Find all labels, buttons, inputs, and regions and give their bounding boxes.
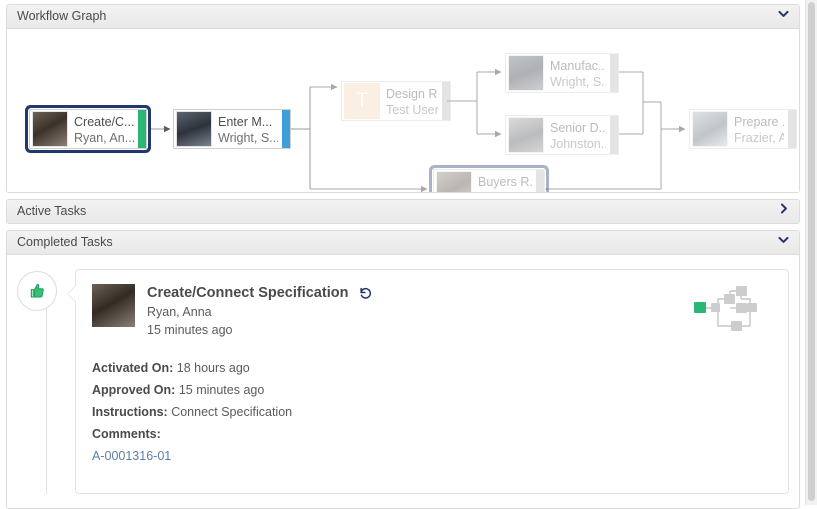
workflow-thumbnail-icon[interactable] bbox=[692, 286, 770, 338]
field-activated-on: Activated On: 18 hours ago bbox=[92, 357, 772, 379]
avatar bbox=[92, 284, 135, 327]
task-document-link[interactable]: A-0001316-01 bbox=[92, 445, 772, 467]
avatar bbox=[32, 111, 68, 147]
task-fields: Activated On: 18 hours ago Approved On: … bbox=[92, 357, 772, 467]
task-title: Create/Connect Specification bbox=[147, 284, 348, 302]
field-instructions: Instructions: Connect Specification bbox=[92, 401, 772, 423]
workflow-node-senior-design[interactable]: Senior D... Johnston... bbox=[505, 115, 619, 155]
chevron-right-icon[interactable] bbox=[777, 200, 790, 223]
field-label: Activated On: bbox=[92, 361, 173, 375]
task-card-header: Create/Connect Specification bbox=[92, 284, 772, 339]
list-item: Create/Connect Specification bbox=[17, 269, 789, 494]
status-bar bbox=[282, 110, 290, 148]
field-value: 18 hours ago bbox=[177, 361, 250, 375]
status-bar bbox=[788, 110, 796, 148]
workflow-node-user: Frazier, A... bbox=[734, 130, 784, 146]
avatar bbox=[508, 55, 544, 91]
workflow-node-create[interactable]: Create/C... Ryan, An... bbox=[29, 109, 147, 149]
field-label: Instructions: bbox=[92, 405, 168, 419]
field-value: 15 minutes ago bbox=[179, 383, 264, 397]
workflow-node-enter[interactable]: Enter M... Wright, S... bbox=[173, 109, 291, 149]
workflow-node-user: Test User1 bbox=[386, 102, 438, 118]
panel-workflow-graph: Workflow Graph bbox=[6, 4, 800, 193]
workflow-graph-canvas[interactable]: Create/C... Ryan, An... Enter M... Wrigh… bbox=[7, 29, 799, 192]
workflow-node-title: Buyers R... bbox=[478, 174, 532, 190]
field-label: Approved On: bbox=[92, 383, 175, 397]
panel-title-active-tasks: Active Tasks bbox=[17, 204, 86, 218]
workflow-page: Workflow Graph bbox=[0, 0, 817, 505]
panel-title-workflow-graph: Workflow Graph bbox=[17, 9, 106, 23]
workflow-node-title: Create/C... bbox=[74, 114, 134, 130]
status-bar bbox=[610, 54, 618, 92]
workflow-node-user: Wright, S... bbox=[218, 130, 278, 146]
panel-header-active-tasks[interactable]: Active Tasks bbox=[7, 200, 799, 223]
workflow-node-user: Ryan, An... bbox=[74, 130, 134, 146]
thumbs-up-icon bbox=[17, 271, 57, 311]
panel-title-completed-tasks: Completed Tasks bbox=[17, 235, 113, 249]
workflow-node-title: Manufac... bbox=[550, 58, 606, 74]
field-approved-on: Approved On: 15 minutes ago bbox=[92, 379, 772, 401]
page-scrollbar[interactable] bbox=[805, 0, 817, 505]
chevron-down-icon[interactable] bbox=[777, 231, 790, 254]
workflow-node-title: Design R... bbox=[386, 86, 438, 102]
workflow-node-prepare[interactable]: Prepare ... Frazier, A... bbox=[689, 109, 797, 149]
panel-completed-tasks: Completed Tasks bbox=[6, 230, 800, 509]
task-user: Ryan, Anna bbox=[147, 303, 373, 321]
workflow-node-user: Ryan, An... bbox=[478, 190, 532, 192]
field-label: Comments: bbox=[92, 427, 161, 441]
workflow-node-title: Enter M... bbox=[218, 114, 278, 130]
history-revert-icon[interactable] bbox=[358, 286, 373, 301]
page-scrollbar-thumb[interactable] bbox=[808, 2, 815, 501]
workflow-node-design[interactable]: T Design R... Test User1 bbox=[341, 81, 451, 121]
panel-header-completed-tasks[interactable]: Completed Tasks bbox=[7, 231, 799, 255]
chevron-down-icon[interactable] bbox=[777, 5, 790, 28]
panel-header-workflow-graph[interactable]: Workflow Graph bbox=[7, 5, 799, 29]
avatar-letter: T bbox=[344, 83, 380, 119]
panel-active-tasks: Active Tasks bbox=[6, 199, 800, 224]
field-comments: Comments: bbox=[92, 423, 772, 445]
workflow-node-title: Senior D... bbox=[550, 120, 606, 136]
page-content: Workflow Graph bbox=[0, 0, 806, 505]
field-value: Connect Specification bbox=[171, 405, 292, 419]
workflow-node-user: Wright, S... bbox=[550, 74, 606, 90]
panel-body-workflow-graph: Create/C... Ryan, An... Enter M... Wrigh… bbox=[7, 29, 799, 192]
task-title-row: Create/Connect Specification bbox=[147, 284, 373, 302]
workflow-node-manufacturing[interactable]: Manufac... Wright, S... bbox=[505, 53, 619, 93]
avatar bbox=[508, 117, 544, 153]
status-bar bbox=[610, 116, 618, 154]
panel-body-completed-tasks: Create/Connect Specification bbox=[7, 255, 799, 508]
avatar bbox=[176, 111, 212, 147]
workflow-node-title: Prepare ... bbox=[734, 114, 784, 130]
workflow-node-buyers[interactable]: Buyers R... Ryan, An... bbox=[433, 169, 545, 192]
workflow-node-user: Johnston... bbox=[550, 136, 606, 152]
task-timestamp: 15 minutes ago bbox=[147, 321, 373, 339]
status-bar bbox=[442, 82, 450, 120]
task-card[interactable]: Create/Connect Specification bbox=[75, 269, 789, 494]
completed-tasks-list: Create/Connect Specification bbox=[7, 255, 799, 508]
avatar bbox=[692, 111, 728, 147]
status-bar bbox=[138, 110, 146, 148]
status-bar bbox=[536, 170, 544, 192]
avatar bbox=[436, 171, 472, 192]
